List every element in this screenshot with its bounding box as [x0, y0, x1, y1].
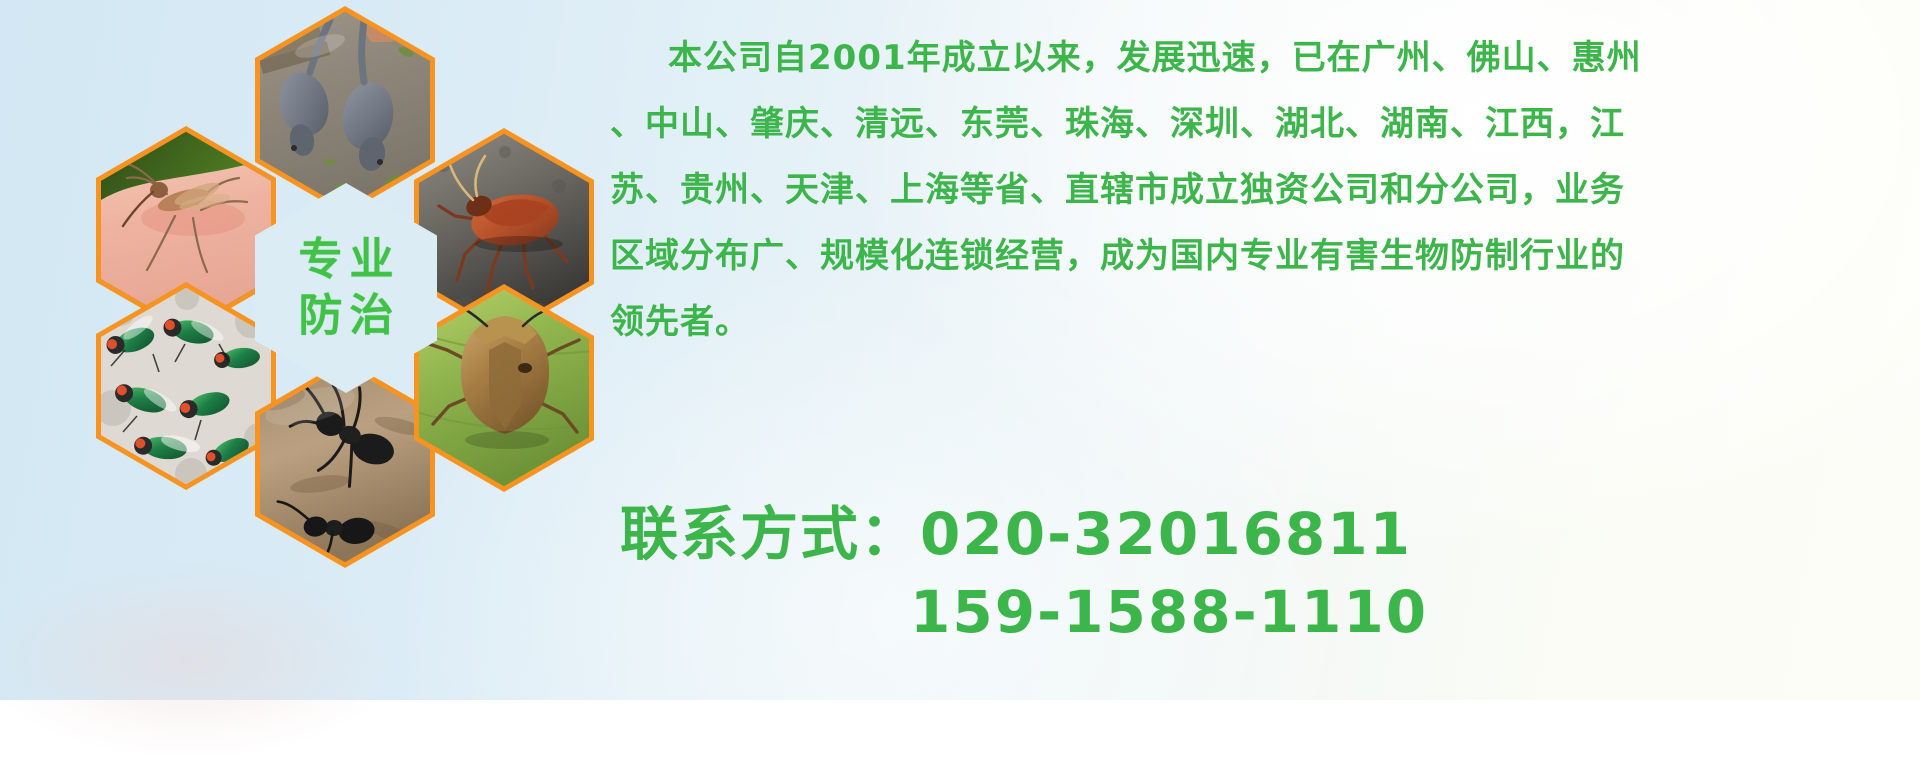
description-line-5: 领先者。: [610, 294, 1900, 351]
company-description: 本公司自2001年成立以来，发展迅速，已在广州、佛山、惠州 、中山、肇庆、清远、…: [610, 30, 1900, 360]
hex-cell-rats[interactable]: [255, 6, 435, 214]
background-blob: [0, 560, 400, 760]
honeycomb-collage: 专业 防治: [96, 0, 596, 578]
ant-photo: [260, 366, 430, 562]
description-line-1: 本公司自2001年成立以来，发展迅速，已在广州、佛山、惠州: [610, 30, 1900, 87]
center-label-line1: 专业: [292, 232, 401, 288]
stinkbug-photo: [419, 290, 589, 486]
hex-cell-flies[interactable]: [96, 282, 276, 490]
flies-photo: [101, 288, 271, 484]
promo-banner: 专业 防治 本公司自2001年成立以来，发展迅速，已在广州、佛山、惠州 、中山、…: [0, 0, 1920, 700]
description-line-2: 、中山、肇庆、清远、东莞、珠海、深圳、湖北、湖南、江西，江: [610, 96, 1900, 153]
hex-image-rats: [260, 12, 430, 208]
hex-image-flies: [101, 288, 271, 484]
description-line-4: 区域分布广、规模化连锁经营，成为国内专业有害生物防制行业的: [610, 228, 1900, 285]
hex-image-stinkbug: [419, 290, 589, 486]
center-label-line2: 防治: [292, 288, 401, 344]
contact-line-secondary[interactable]: 159-1588-1110: [620, 573, 1720, 651]
hex-cell-stinkbug[interactable]: [414, 284, 594, 492]
hex-cell-center-label: 专业 防治: [255, 183, 437, 393]
contact-block: 联系方式：020-32016811 159-1588-1110: [620, 495, 1720, 651]
description-line-3: 苏、贵州、天津、上海等省、直辖市成立独资公司和分公司，业务: [610, 162, 1900, 219]
hex-image-ants: [260, 366, 430, 562]
rodents-photo: [260, 12, 430, 208]
contact-line-primary[interactable]: 联系方式：020-32016811: [620, 495, 1720, 573]
